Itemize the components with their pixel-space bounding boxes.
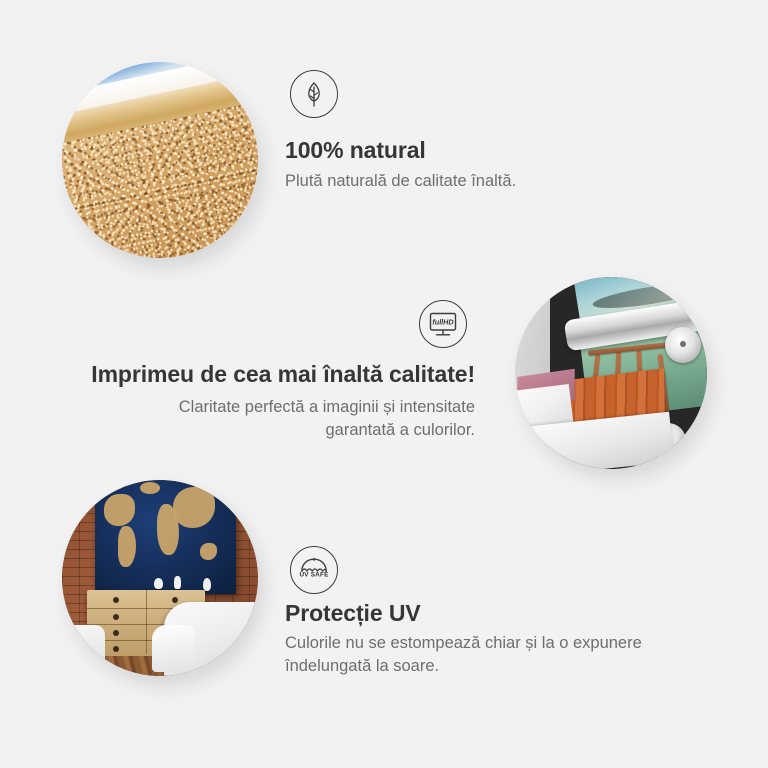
- fullhd-monitor-icon: fullHD: [419, 300, 467, 348]
- feature-title-print-quality: Imprimeu de cea mai înaltă calitate!: [84, 361, 475, 388]
- leaf-icon: [290, 70, 338, 118]
- map-landmass: [140, 482, 160, 494]
- room-photo-world-map-canvas: [95, 480, 236, 594]
- room-photo-decor-object: [203, 578, 211, 591]
- feature-title-natural: 100% natural: [285, 137, 426, 164]
- room-photo-armchair-left: [62, 625, 105, 676]
- map-landmass: [118, 526, 136, 567]
- room-photo-armchair-arm: [152, 625, 195, 672]
- room-world-map-photo: [62, 480, 258, 676]
- map-landmass: [173, 487, 215, 528]
- map-landmass: [104, 494, 135, 526]
- feature-panel: 100% natural Plută naturală de calitate …: [0, 0, 768, 768]
- room-photo-decor-object: [154, 578, 163, 589]
- feature-title-uv-protection: Protecție UV: [285, 600, 421, 627]
- uv-safe-icon-label: UV SAFE: [299, 572, 329, 579]
- room-photo-decor-object: [174, 576, 181, 589]
- feature-description-print-quality-line1: Claritate perfectă a imaginii și intensi…: [84, 396, 475, 419]
- feature-description-print-quality: Claritate perfectă a imaginii și intensi…: [84, 396, 475, 443]
- feature-description-print-quality-line2: garantată a culorilor.: [84, 419, 475, 442]
- feature-description-natural: Plută naturală de calitate înaltă.: [285, 170, 516, 193]
- uv-safe-umbrella-icon: UV SAFE: [290, 546, 338, 594]
- feature-description-uv-protection: Culorile nu se estompează chiar și la o …: [285, 632, 705, 679]
- printing-machine-photo: [515, 277, 707, 469]
- fullhd-icon-label: fullHD: [432, 318, 453, 327]
- cork-board-photo: [62, 62, 258, 258]
- map-landmass: [200, 543, 217, 560]
